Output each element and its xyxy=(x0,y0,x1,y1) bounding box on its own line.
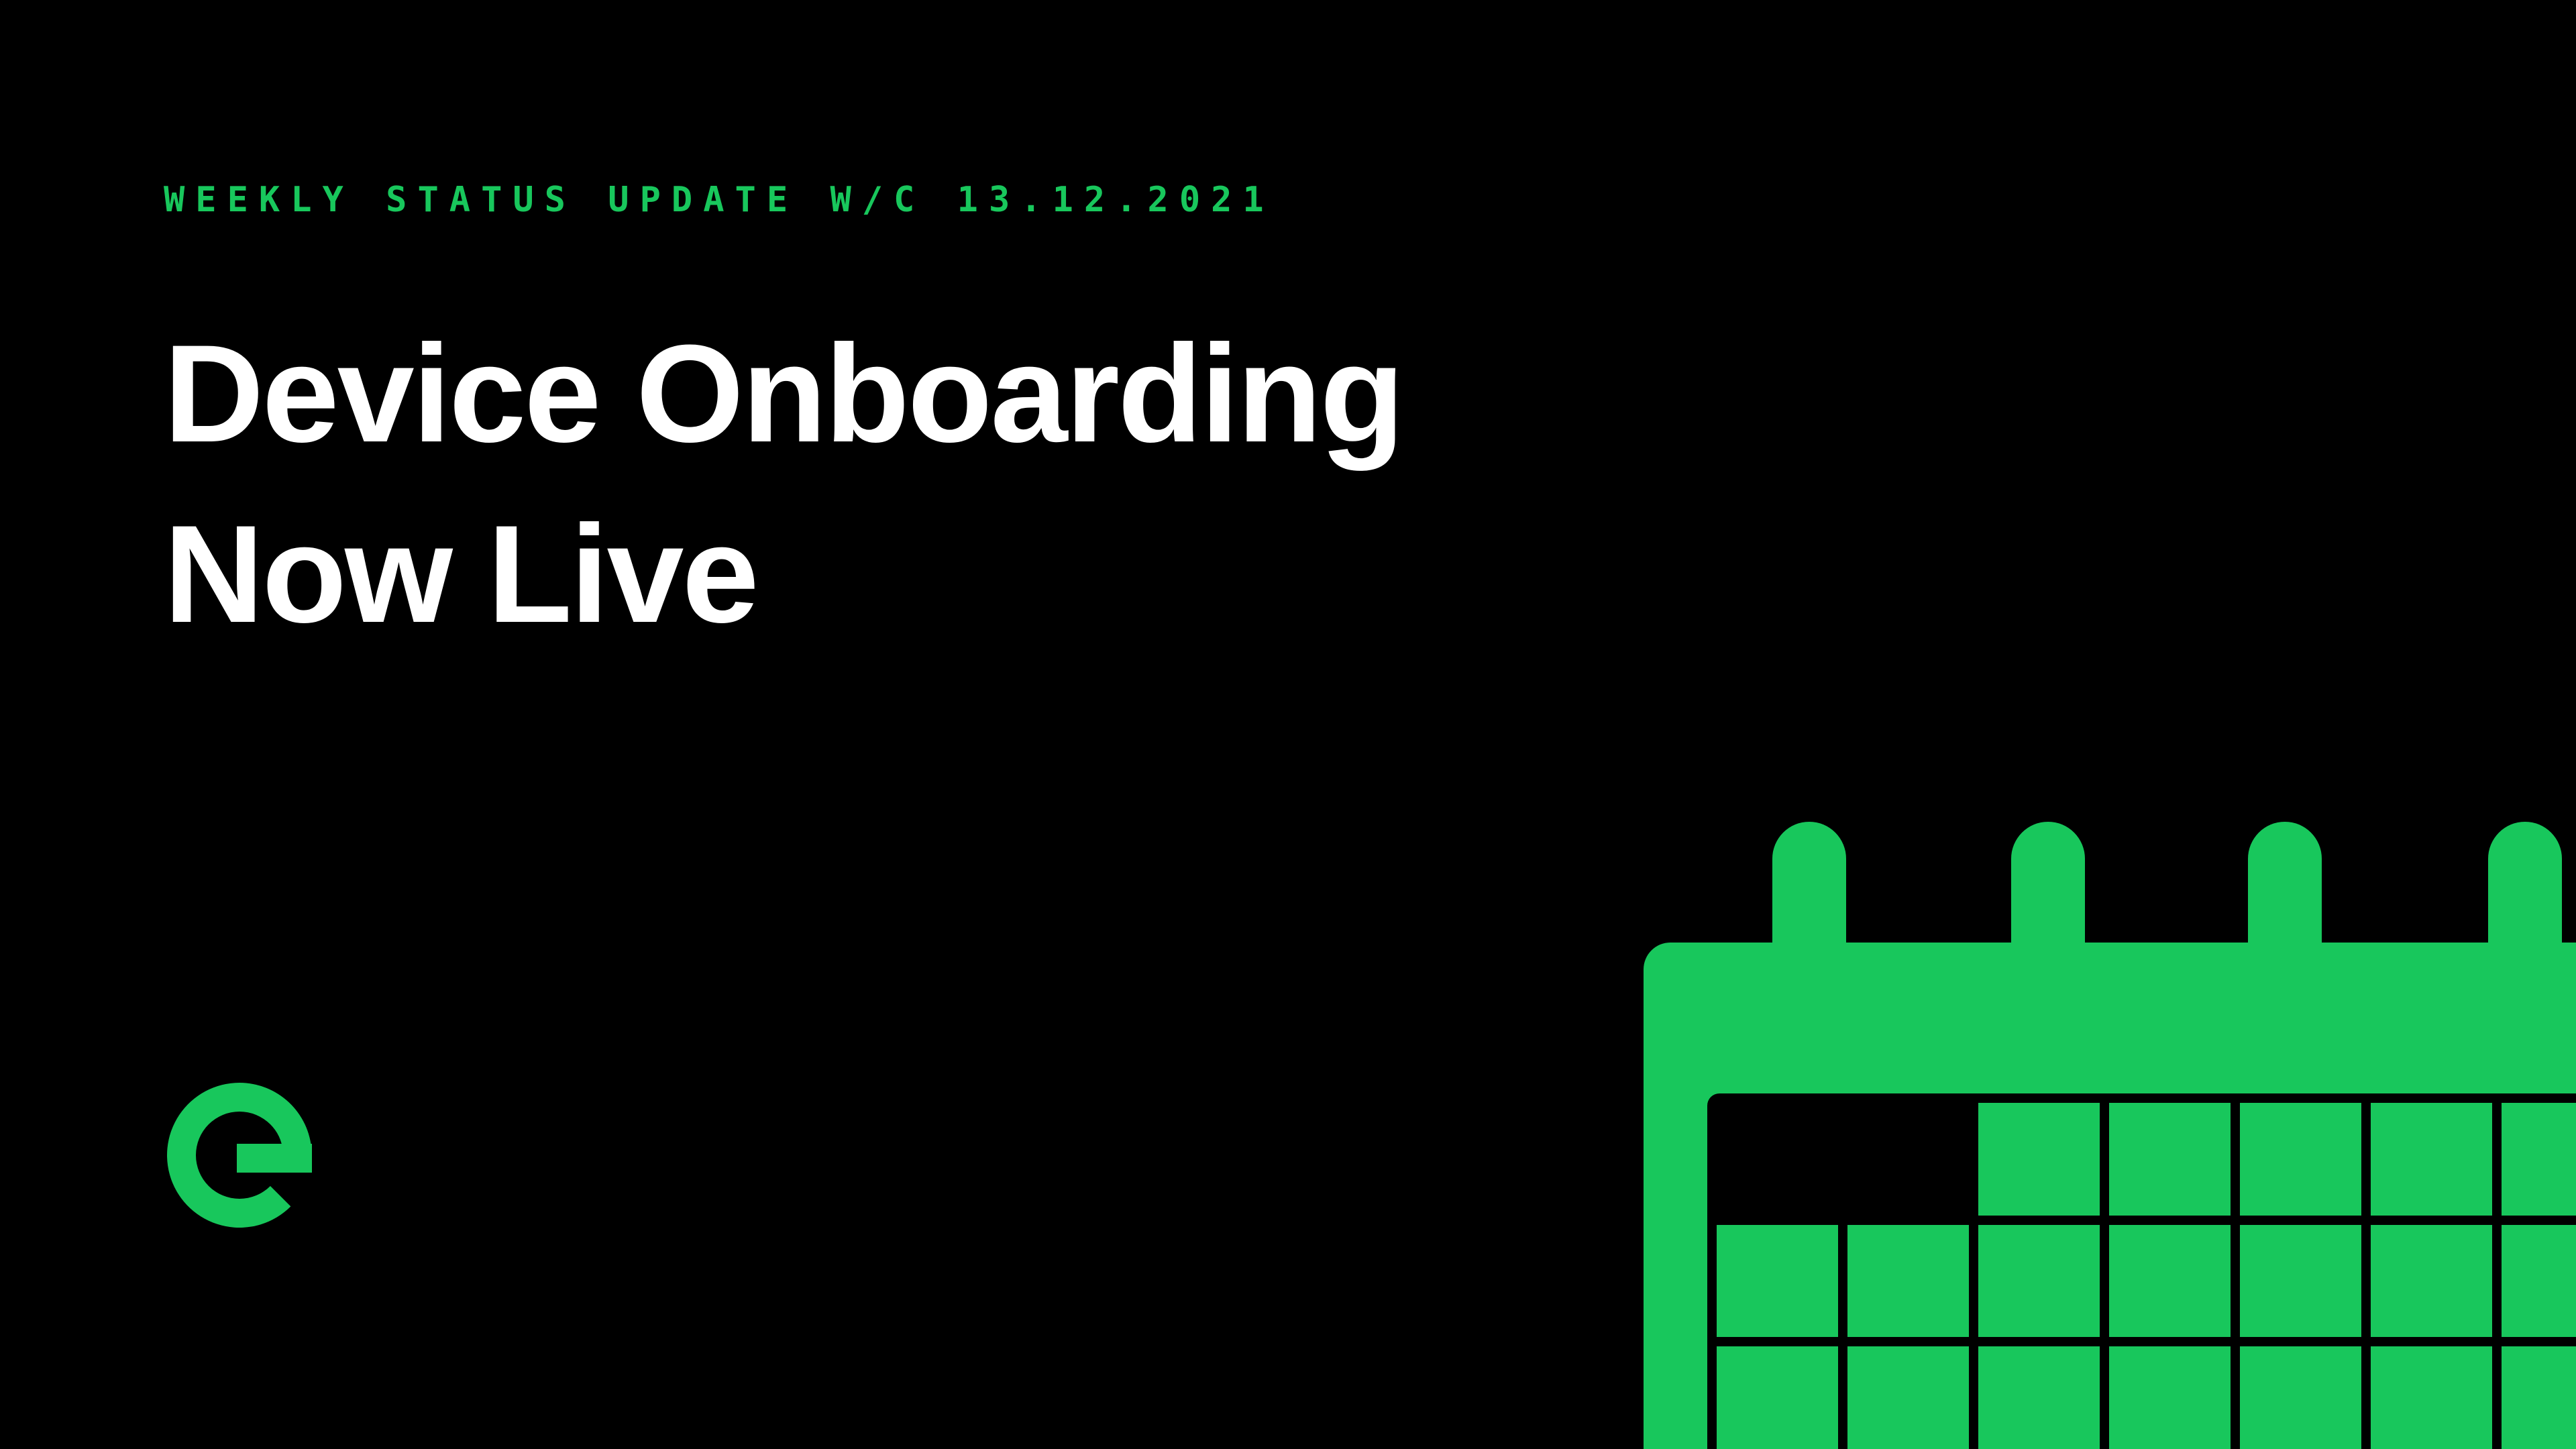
calendar-cell-empty xyxy=(1847,1103,1969,1216)
calendar-cell-day xyxy=(2371,1103,2492,1216)
calendar-body xyxy=(1644,943,2576,1449)
calendar-cell-day xyxy=(2240,1346,2361,1449)
calendar-cell-day xyxy=(1847,1346,1969,1449)
calendar-cell-day xyxy=(2502,1225,2576,1338)
calendar-cell-day xyxy=(1847,1225,1969,1338)
calendar-cell-day xyxy=(1978,1346,2100,1449)
calendar-cell-empty xyxy=(1717,1103,1838,1216)
e-logo-glyph xyxy=(163,1079,316,1232)
calendar-cell-day xyxy=(2502,1346,2576,1449)
headline-line-1: Device Onboarding xyxy=(164,303,1707,484)
status-update-eyebrow: WEEKLY STATUS UPDATE W/C 13.12.2021 xyxy=(164,182,1275,217)
calendar-date-grid xyxy=(1707,1093,2576,1449)
calendar-illustration xyxy=(1637,815,2576,1449)
calendar-cell-day xyxy=(1717,1346,1838,1449)
calendar-cell-day xyxy=(2240,1103,2361,1216)
calendar-cell-day xyxy=(2371,1346,2492,1449)
calendar-cell-day xyxy=(1717,1225,1838,1338)
calendar-cell-day xyxy=(2109,1346,2231,1449)
calendar-cell-day xyxy=(2371,1225,2492,1338)
calendar-cell-day xyxy=(2109,1225,2231,1338)
calendar-cell-day xyxy=(1978,1225,2100,1338)
calendar-cell-day xyxy=(2109,1103,2231,1216)
e-logo-icon xyxy=(163,1079,316,1232)
calendar-cell-day xyxy=(2240,1225,2361,1338)
slide-canvas: WEEKLY STATUS UPDATE W/C 13.12.2021 Devi… xyxy=(0,0,2576,1449)
calendar-cell-day xyxy=(1978,1103,2100,1216)
page-title: Device Onboarding Now Live xyxy=(164,303,1707,664)
calendar-cell-day xyxy=(2502,1103,2576,1216)
headline-line-2: Now Live xyxy=(164,484,1707,664)
